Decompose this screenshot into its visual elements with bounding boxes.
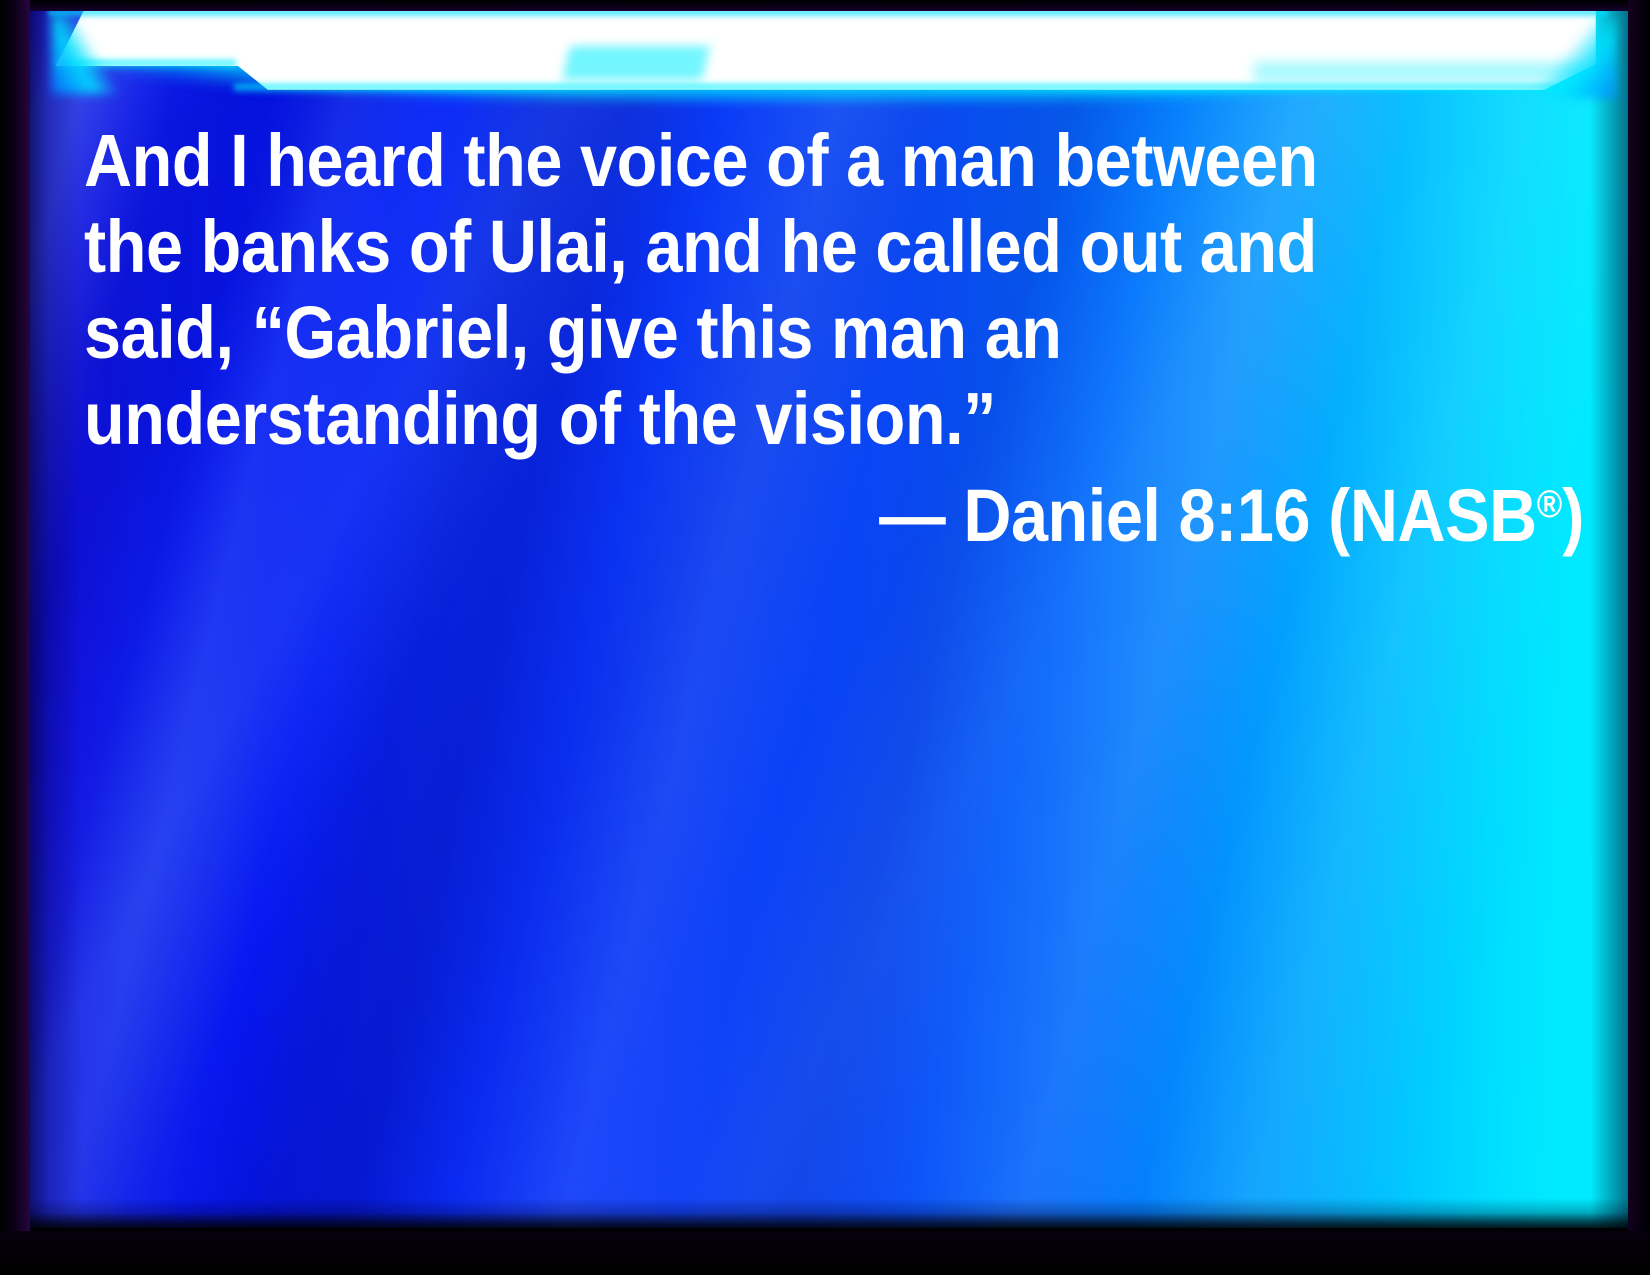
registered-trademark-icon: ® [1537,483,1563,526]
verse-citation: — Daniel 8:16 (NASB®) [234,462,1584,559]
top-band-right-bevel [1536,20,1616,98]
top-band-lower-cyan-edge [234,84,1604,94]
top-glow-band [22,10,1630,110]
verse-line-3: said, “Gabriel, give this man an [84,290,1362,376]
top-band-cyan-smear [1254,62,1584,82]
frame-border-bottom [0,1231,1650,1275]
top-band-left-bevel [52,14,122,94]
top-band-cyan-notch [562,46,709,80]
panel-left-shading [22,10,82,1228]
verse-text: And I heard the voice of a man between t… [84,118,1362,462]
scripture-slide: And I heard the voice of a man between t… [0,0,1650,1275]
frame-border-right [1628,0,1650,1275]
citation-close-paren: ) [1562,474,1584,557]
top-band-upper-cyan-edge [48,10,1608,19]
citation-reference: — Daniel 8:16 (NASB [879,474,1537,557]
panel-right-shading [1590,10,1630,1228]
verse-line-1: And I heard the voice of a man between [84,118,1362,204]
verse-line-2: the banks of Ulai, and he called out and [84,204,1362,290]
panel-bottom-shading [22,1198,1630,1228]
verse-line-4: understanding of the vision.” [84,376,1362,462]
